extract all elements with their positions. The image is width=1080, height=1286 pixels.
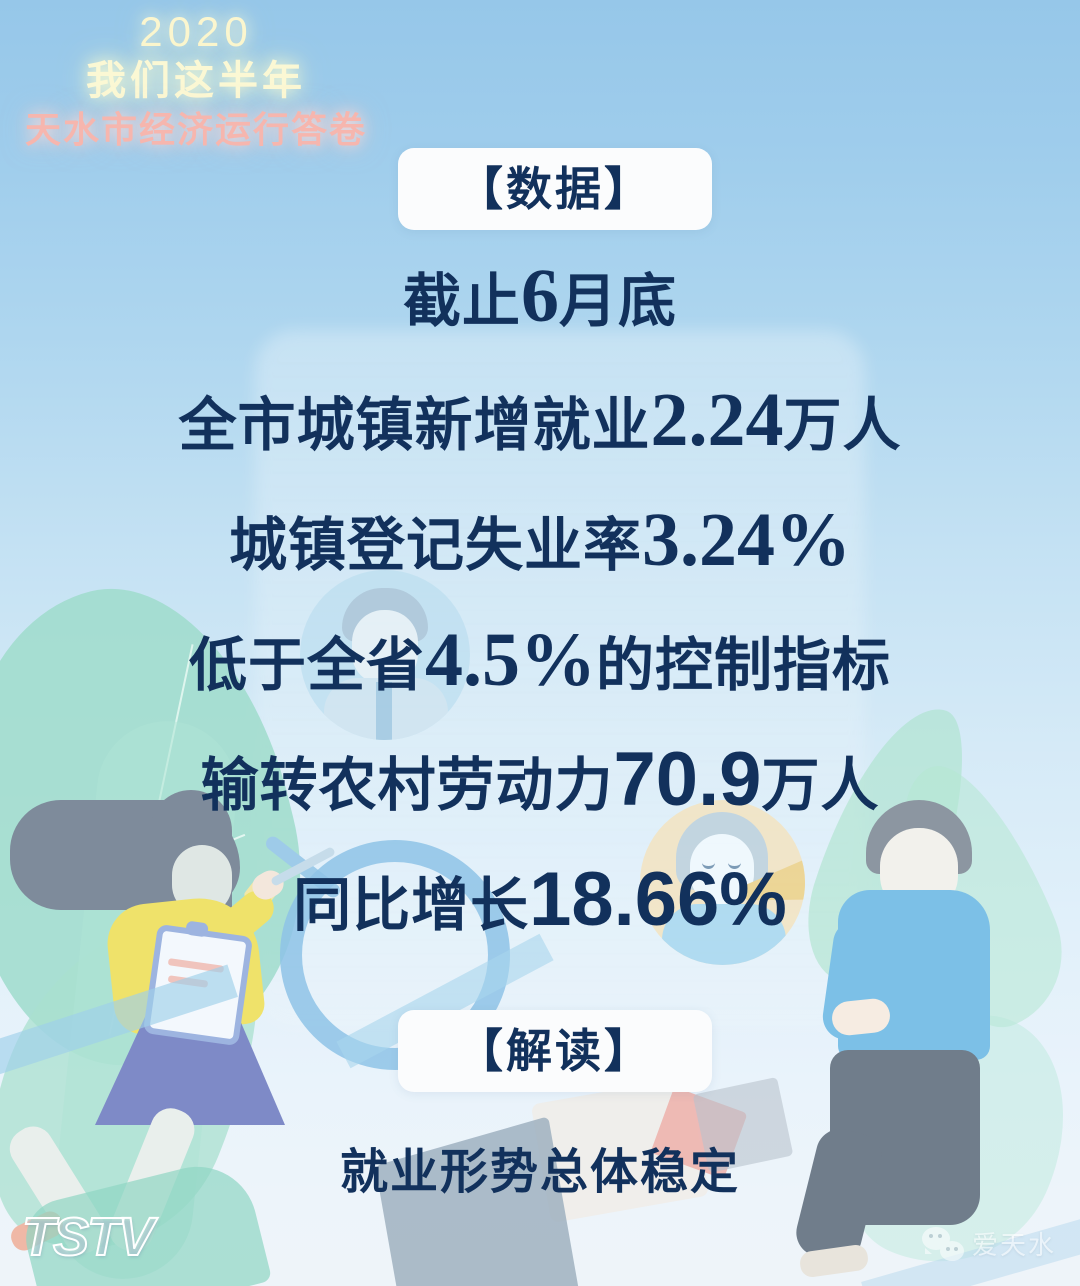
data-lines-container: 截止6月底 全市城镇新增就业2.24万人 城镇登记失业率3.24% 低于全省4.… bbox=[0, 258, 1080, 938]
wechat-dot bbox=[938, 1234, 942, 1238]
data-line-number: 18.66% bbox=[529, 857, 787, 942]
data-line: 同比增长18.66% bbox=[0, 862, 1080, 938]
poster-header: 2020 我们这半年 天水市经济运行答卷 bbox=[0, 8, 392, 154]
data-line-suffix: 月底 bbox=[559, 269, 677, 334]
page-title: 天水市经济运行答卷 bbox=[0, 106, 392, 154]
data-line-suffix: 的控制指标 bbox=[596, 633, 891, 698]
clipboard-icon bbox=[143, 924, 253, 1046]
data-line: 截止6月底 bbox=[0, 258, 1080, 334]
data-line-prefix: 城镇登记失业率 bbox=[229, 513, 642, 578]
section-badge-data: 【数据】 bbox=[398, 148, 712, 230]
ribbon-shape bbox=[0, 964, 238, 1089]
data-line-number: 70.9 bbox=[614, 737, 762, 822]
section-badge-data-label: 【数据】 bbox=[457, 166, 653, 212]
data-line-number: 2.24 bbox=[651, 378, 784, 462]
data-line-prefix: 同比增长 bbox=[293, 873, 529, 938]
data-line-prefix: 输转农村劳动力 bbox=[201, 753, 614, 818]
title-subtitle: 我们这半年 bbox=[0, 56, 392, 106]
man-shoe bbox=[799, 1243, 870, 1278]
data-line-suffix: 万人 bbox=[784, 393, 902, 458]
data-line: 城镇登记失业率3.24% bbox=[0, 502, 1080, 578]
wechat-account-name: 爱天水 bbox=[972, 1225, 1056, 1262]
data-line-suffix: 万人 bbox=[761, 753, 879, 818]
data-line: 低于全省4.5%的控制指标 bbox=[0, 622, 1080, 698]
data-line-prefix: 截止 bbox=[403, 269, 521, 334]
data-line: 全市城镇新增就业2.24万人 bbox=[0, 382, 1080, 458]
title-year: 2020 bbox=[0, 8, 392, 56]
data-line: 输转农村劳动力70.9万人 bbox=[0, 742, 1080, 818]
data-line-prefix: 全市城镇新增就业 bbox=[178, 393, 650, 458]
wechat-account-mark: 爱天水 bbox=[922, 1225, 1056, 1262]
wechat-dot bbox=[946, 1247, 950, 1251]
interpretation-text: 就业形势总体稳定 bbox=[0, 1132, 1080, 1202]
wechat-bubble-small bbox=[940, 1241, 964, 1261]
data-line-prefix: 低于全省 bbox=[189, 633, 425, 698]
wechat-icon bbox=[922, 1227, 964, 1261]
clipboard-line bbox=[168, 975, 209, 987]
section-badge-interpretation-label: 【解读】 bbox=[457, 1028, 653, 1074]
infographic-poster: 2020 我们这半年 天水市经济运行答卷 【数据】 截止6月底 全市城镇新增就业… bbox=[0, 0, 1080, 1286]
clipboard-line bbox=[168, 958, 224, 973]
man-hand bbox=[830, 997, 891, 1037]
data-line-number: 4.5% bbox=[425, 618, 596, 702]
wechat-dot bbox=[929, 1234, 933, 1238]
section-badge-interpretation: 【解读】 bbox=[398, 1010, 712, 1092]
woman-skirt bbox=[95, 1010, 285, 1125]
wechat-dot bbox=[954, 1247, 958, 1251]
data-line-number: 6 bbox=[521, 254, 559, 338]
tstv-logo: TSTV bbox=[22, 1206, 152, 1268]
data-line-number: 3.24% bbox=[642, 498, 851, 582]
